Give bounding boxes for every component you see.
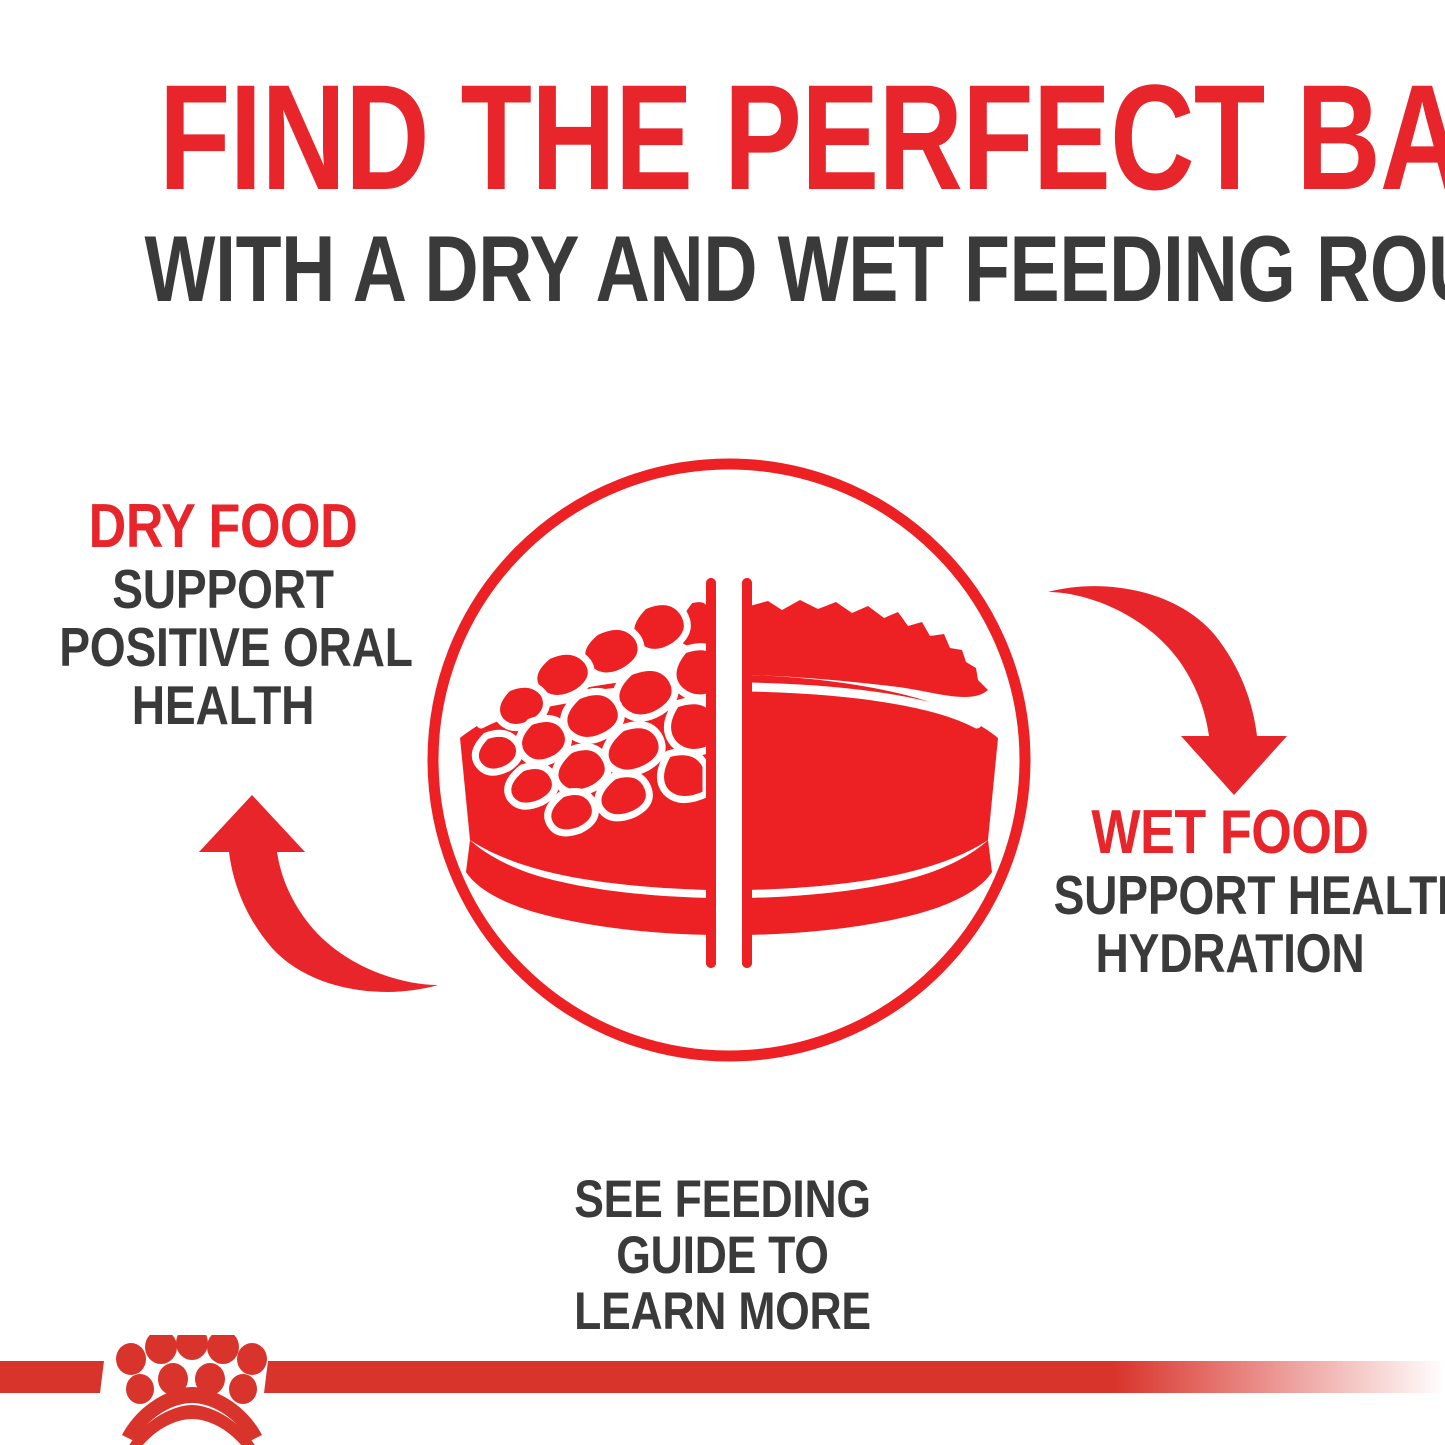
dry-kibble-group	[475, 599, 722, 833]
bowl-rim-highlight-left	[481, 687, 712, 724]
callout-dry-line-2: POSITIVE ORAL	[59, 618, 387, 676]
wet-food-mound	[746, 600, 988, 697]
brand-footer	[0, 1335, 1445, 1445]
page-title: FIND THE PERFECT BALANCE	[159, 62, 1286, 212]
callout-wet-food: WET FOOD SUPPORT HEALTHY HYDRATION	[1020, 800, 1440, 982]
promo-panel: FIND THE PERFECT BALANCE WITH A DRY AND …	[0, 0, 1445, 1445]
divider-bar-right-2	[742, 578, 752, 968]
callout-wet-label: WET FOOD	[1054, 800, 1407, 866]
caption-line-2: GUIDE TO	[116, 1228, 1330, 1284]
callout-dry-label: DRY FOOD	[59, 494, 387, 560]
red-bar-left	[0, 1361, 104, 1393]
divider-bar-left	[706, 578, 716, 968]
curved-arrow-up-left-icon	[199, 795, 438, 992]
bowl-base-right	[746, 840, 992, 935]
callout-wet-line-2: HYDRATION	[1054, 924, 1407, 982]
curved-arrow-down-right-icon	[1048, 586, 1287, 795]
bowl-body-right	[746, 675, 998, 890]
callout-dry-food: DRY FOOD SUPPORT POSITIVE ORAL HEALTH	[28, 494, 418, 734]
bowl-group	[460, 578, 998, 968]
callout-dry-line-1: SUPPORT	[59, 560, 387, 618]
divider-bar-right	[742, 578, 752, 968]
divider-gap	[716, 578, 742, 968]
bowl-rim-highlight-right	[746, 687, 977, 724]
divider-bar-left-2	[706, 578, 716, 968]
caption-line-1: SEE FEEDING	[116, 1172, 1330, 1228]
callout-dry-line-3: HEALTH	[59, 676, 387, 734]
callout-wet-line-1: SUPPORT HEALTHY	[1054, 866, 1407, 924]
royal-canin-crown-icon	[116, 1335, 267, 1445]
outline-circle	[433, 464, 1025, 1056]
bowl-base-left	[466, 840, 712, 935]
red-bar-right	[264, 1361, 1445, 1393]
feeding-guide-caption: SEE FEEDING GUIDE TO LEARN MORE	[0, 1172, 1445, 1340]
page-subtitle: WITH A DRY AND WET FEEDING ROUTINE	[145, 222, 1301, 316]
bowl-body-left	[460, 675, 712, 890]
caption-line-3: LEARN MORE	[116, 1284, 1330, 1340]
